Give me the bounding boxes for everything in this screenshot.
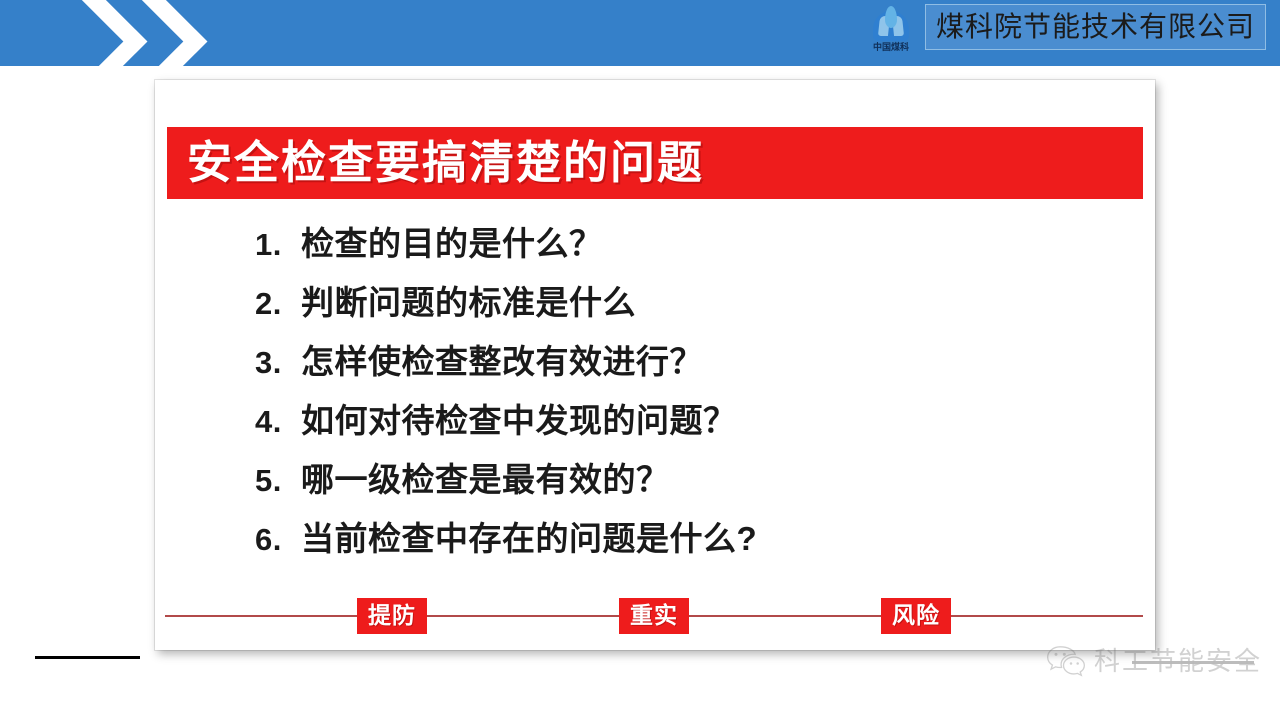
list-item: 3. 怎样使检查整改有效进行？ (255, 343, 1135, 402)
watermark-strikethrough (1132, 661, 1254, 664)
status-badge: 风险 (881, 598, 951, 634)
footer-badge-row: 提防 重实 风险 (165, 596, 1143, 636)
status-badge: 重实 (619, 598, 689, 634)
list-item-number: 1. (255, 226, 301, 264)
status-badge: 提防 (357, 598, 427, 634)
list-item-label: 怎样使检查整改有效进行？ (301, 343, 703, 381)
list-item-label: 当前检查中存在的问题是什么? (301, 520, 757, 558)
brand-logo-caption: 中国煤科 (873, 42, 909, 53)
list-item-number: 5. (255, 462, 301, 500)
company-name-box: 煤科院节能技术有限公司 (925, 4, 1266, 50)
list-item-number: 2. (255, 285, 301, 323)
watermark: 科工节能安全 (1046, 645, 1262, 677)
footer-rule-segment (165, 615, 357, 617)
bottom-left-divider (35, 656, 140, 659)
slide-header: 中国煤科 煤科院节能技术有限公司 (0, 0, 1280, 66)
header-brand-group: 中国煤科 煤科院节能技术有限公司 (863, 0, 1266, 66)
title-banner: 安全检查要搞清楚的问题 (167, 127, 1143, 199)
list-item-label: 检查的目的是什么？ (301, 225, 603, 263)
footer-rule-segment (951, 615, 1143, 617)
wechat-icon (1046, 645, 1086, 677)
coal-science-emblem-icon (871, 5, 911, 43)
page-title: 安全检查要搞清楚的问题 (187, 139, 704, 187)
footer-rule-segment (689, 615, 881, 617)
slide-content-card: 安全检查要搞清楚的问题 1. 检查的目的是什么？ 2. 判断问题的标准是什么 3… (155, 80, 1155, 650)
list-item-label: 如何对待检查中发现的问题？ (301, 402, 737, 440)
list-item: 6. 当前检查中存在的问题是什么? (255, 520, 1135, 579)
list-item-number: 4. (255, 403, 301, 441)
list-item: 2. 判断问题的标准是什么 (255, 284, 1135, 343)
list-item: 4. 如何对待检查中发现的问题？ (255, 402, 1135, 461)
list-item: 1. 检查的目的是什么？ (255, 225, 1135, 284)
list-item-number: 3. (255, 344, 301, 382)
list-item: 5. 哪一级检查是最有效的？ (255, 461, 1135, 520)
brand-logo: 中国煤科 (863, 2, 919, 64)
company-name-text: 煤科院节能技术有限公司 (936, 13, 1255, 41)
list-item-label: 哪一级检查是最有效的？ (301, 461, 670, 499)
list-item-number: 6. (255, 521, 301, 559)
question-list: 1. 检查的目的是什么？ 2. 判断问题的标准是什么 3. 怎样使检查整改有效进… (255, 225, 1135, 579)
footer-rule-segment (427, 615, 619, 617)
list-item-label: 判断问题的标准是什么 (301, 284, 636, 322)
